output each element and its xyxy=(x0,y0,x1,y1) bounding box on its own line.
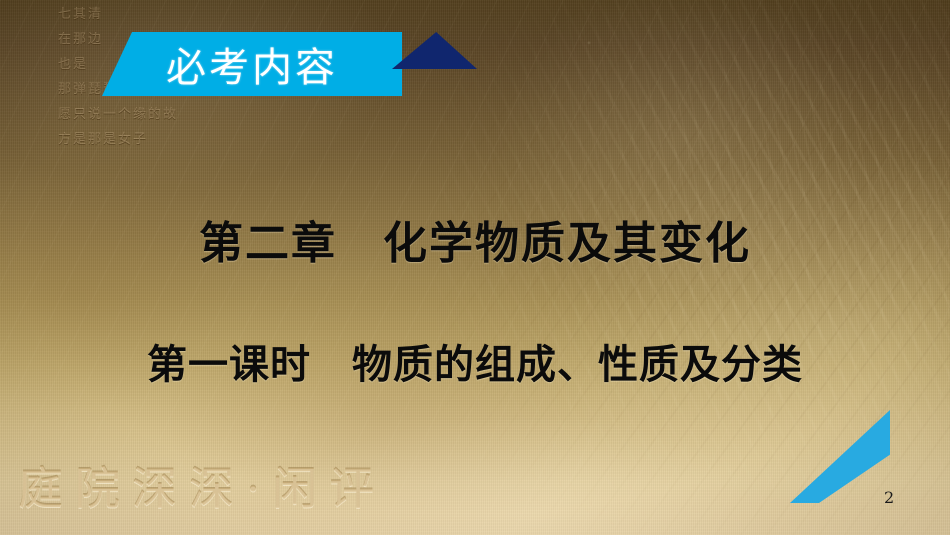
banner-label: 必考内容 xyxy=(102,32,402,96)
chapter-title: 第二章 化学物质及其变化 xyxy=(0,207,950,271)
corner-decoration-shape xyxy=(790,410,890,503)
presentation-slide: 七其清 在那边 也是 那弹琵琶的女子也是十六岁那 愿只说一个缘的故 方是那是女子… xyxy=(0,0,950,535)
page-number: 2 xyxy=(884,488,894,507)
seal-script-watermark: 庭院深深·闲评 xyxy=(18,452,386,517)
lesson-title: 第一课时 物质的组成、性质及分类 xyxy=(0,332,950,390)
banner-triangle-accent-icon xyxy=(392,32,477,69)
section-banner: 必考内容 xyxy=(0,0,520,140)
